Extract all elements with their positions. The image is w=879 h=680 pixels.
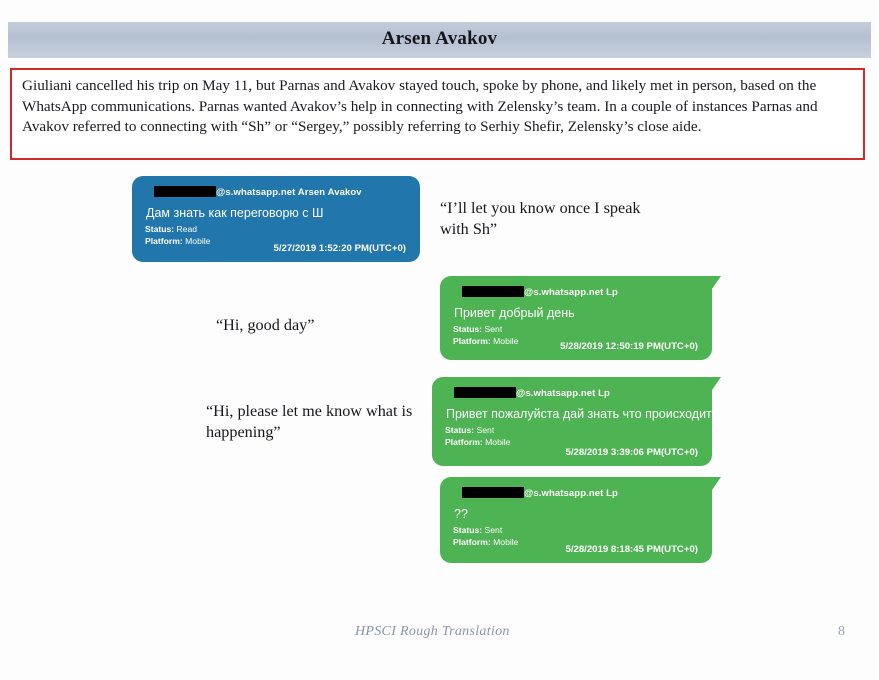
page-title: Arsen Avakov — [8, 28, 871, 50]
message-address: @s.whatsapp.net Arsen Avakov — [216, 187, 362, 198]
message-bubble-blue[interactable]: @s.whatsapp.net Arsen Avakov Дам знать к… — [132, 176, 420, 262]
message-timestamp: 5/28/2019 3:39:06 PM(UTC+0) — [565, 447, 698, 458]
message-address-line: @s.whatsapp.net Lp — [462, 487, 618, 499]
status-value: Sent — [485, 324, 503, 334]
platform-value: Mobile — [485, 437, 510, 447]
message-status: Status: Sent — [453, 525, 502, 535]
message-status: Status: Sent — [445, 425, 494, 435]
bubble-tail-icon — [712, 377, 721, 390]
message-platform: Platform: Mobile — [445, 437, 510, 447]
status-label: Status: — [145, 224, 174, 234]
redaction-bar — [154, 186, 216, 197]
platform-label: Platform: — [453, 336, 491, 346]
message-bubble-green-2[interactable]: @s.whatsapp.net Lp Привет пожалуйста дай… — [432, 377, 712, 466]
status-value: Sent — [485, 525, 503, 535]
message-platform: Platform: Mobile — [145, 236, 210, 246]
message-text: ?? — [454, 507, 468, 521]
message-address-line: @s.whatsapp.net Lp — [454, 387, 610, 399]
summary-paragraph: Giuliani cancelled his trip on May 11, b… — [22, 76, 851, 138]
message-bubble-green-1[interactable]: @s.whatsapp.net Lp Привет добрый день St… — [440, 276, 712, 360]
platform-label: Platform: — [145, 236, 183, 246]
status-value: Read — [177, 224, 198, 234]
message-address-line: @s.whatsapp.net Lp — [462, 286, 618, 298]
message-address: @s.whatsapp.net Lp — [516, 388, 610, 399]
message-text: Привет добрый день — [454, 306, 575, 320]
message-address: @s.whatsapp.net Lp — [524, 488, 618, 499]
platform-label: Platform: — [453, 537, 491, 547]
message-platform: Platform: Mobile — [453, 537, 518, 547]
message-status: Status: Read — [145, 224, 197, 234]
redaction-bar — [462, 487, 524, 498]
message-text: Дам знать как переговорю с Ш — [146, 206, 323, 220]
document-page: Arsen Avakov Giuliani cancelled his trip… — [0, 0, 879, 680]
footer-note: HPSCI Rough Translation — [355, 624, 510, 640]
message-platform: Platform: Mobile — [453, 336, 518, 346]
summary-callout-box: Giuliani cancelled his trip on May 11, b… — [10, 68, 865, 160]
platform-value: Mobile — [185, 236, 210, 246]
status-value: Sent — [477, 425, 495, 435]
status-label: Status: — [445, 425, 474, 435]
platform-value: Mobile — [493, 537, 518, 547]
message-bubble-green-3[interactable]: @s.whatsapp.net Lp ?? Status: Sent Platf… — [440, 477, 712, 563]
bubble-tail-icon — [712, 276, 721, 289]
translation-annotation-1: “I’ll let you know once I speak with Sh” — [440, 198, 655, 240]
message-text: Привет пожалуйста дай знать что происход… — [446, 407, 712, 421]
translation-annotation-2: “Hi, good day” — [216, 315, 456, 336]
translation-annotation-3: “Hi, please let me know what is happenin… — [206, 401, 424, 443]
footer-page-number: 8 — [838, 624, 845, 640]
message-status: Status: Sent — [453, 324, 502, 334]
message-address-line: @s.whatsapp.net Arsen Avakov — [154, 186, 362, 198]
status-label: Status: — [453, 324, 482, 334]
message-timestamp: 5/28/2019 12:50:19 PM(UTC+0) — [560, 341, 698, 352]
message-timestamp: 5/28/2019 8:18:45 PM(UTC+0) — [565, 544, 698, 555]
header-banner: Arsen Avakov — [8, 22, 871, 58]
message-timestamp: 5/27/2019 1:52:20 PM(UTC+0) — [273, 243, 406, 254]
platform-label: Platform: — [445, 437, 483, 447]
status-label: Status: — [453, 525, 482, 535]
redaction-bar — [462, 286, 524, 297]
platform-value: Mobile — [493, 336, 518, 346]
message-address: @s.whatsapp.net Lp — [524, 287, 618, 298]
bubble-tail-icon — [712, 477, 721, 490]
redaction-bar — [454, 387, 516, 398]
